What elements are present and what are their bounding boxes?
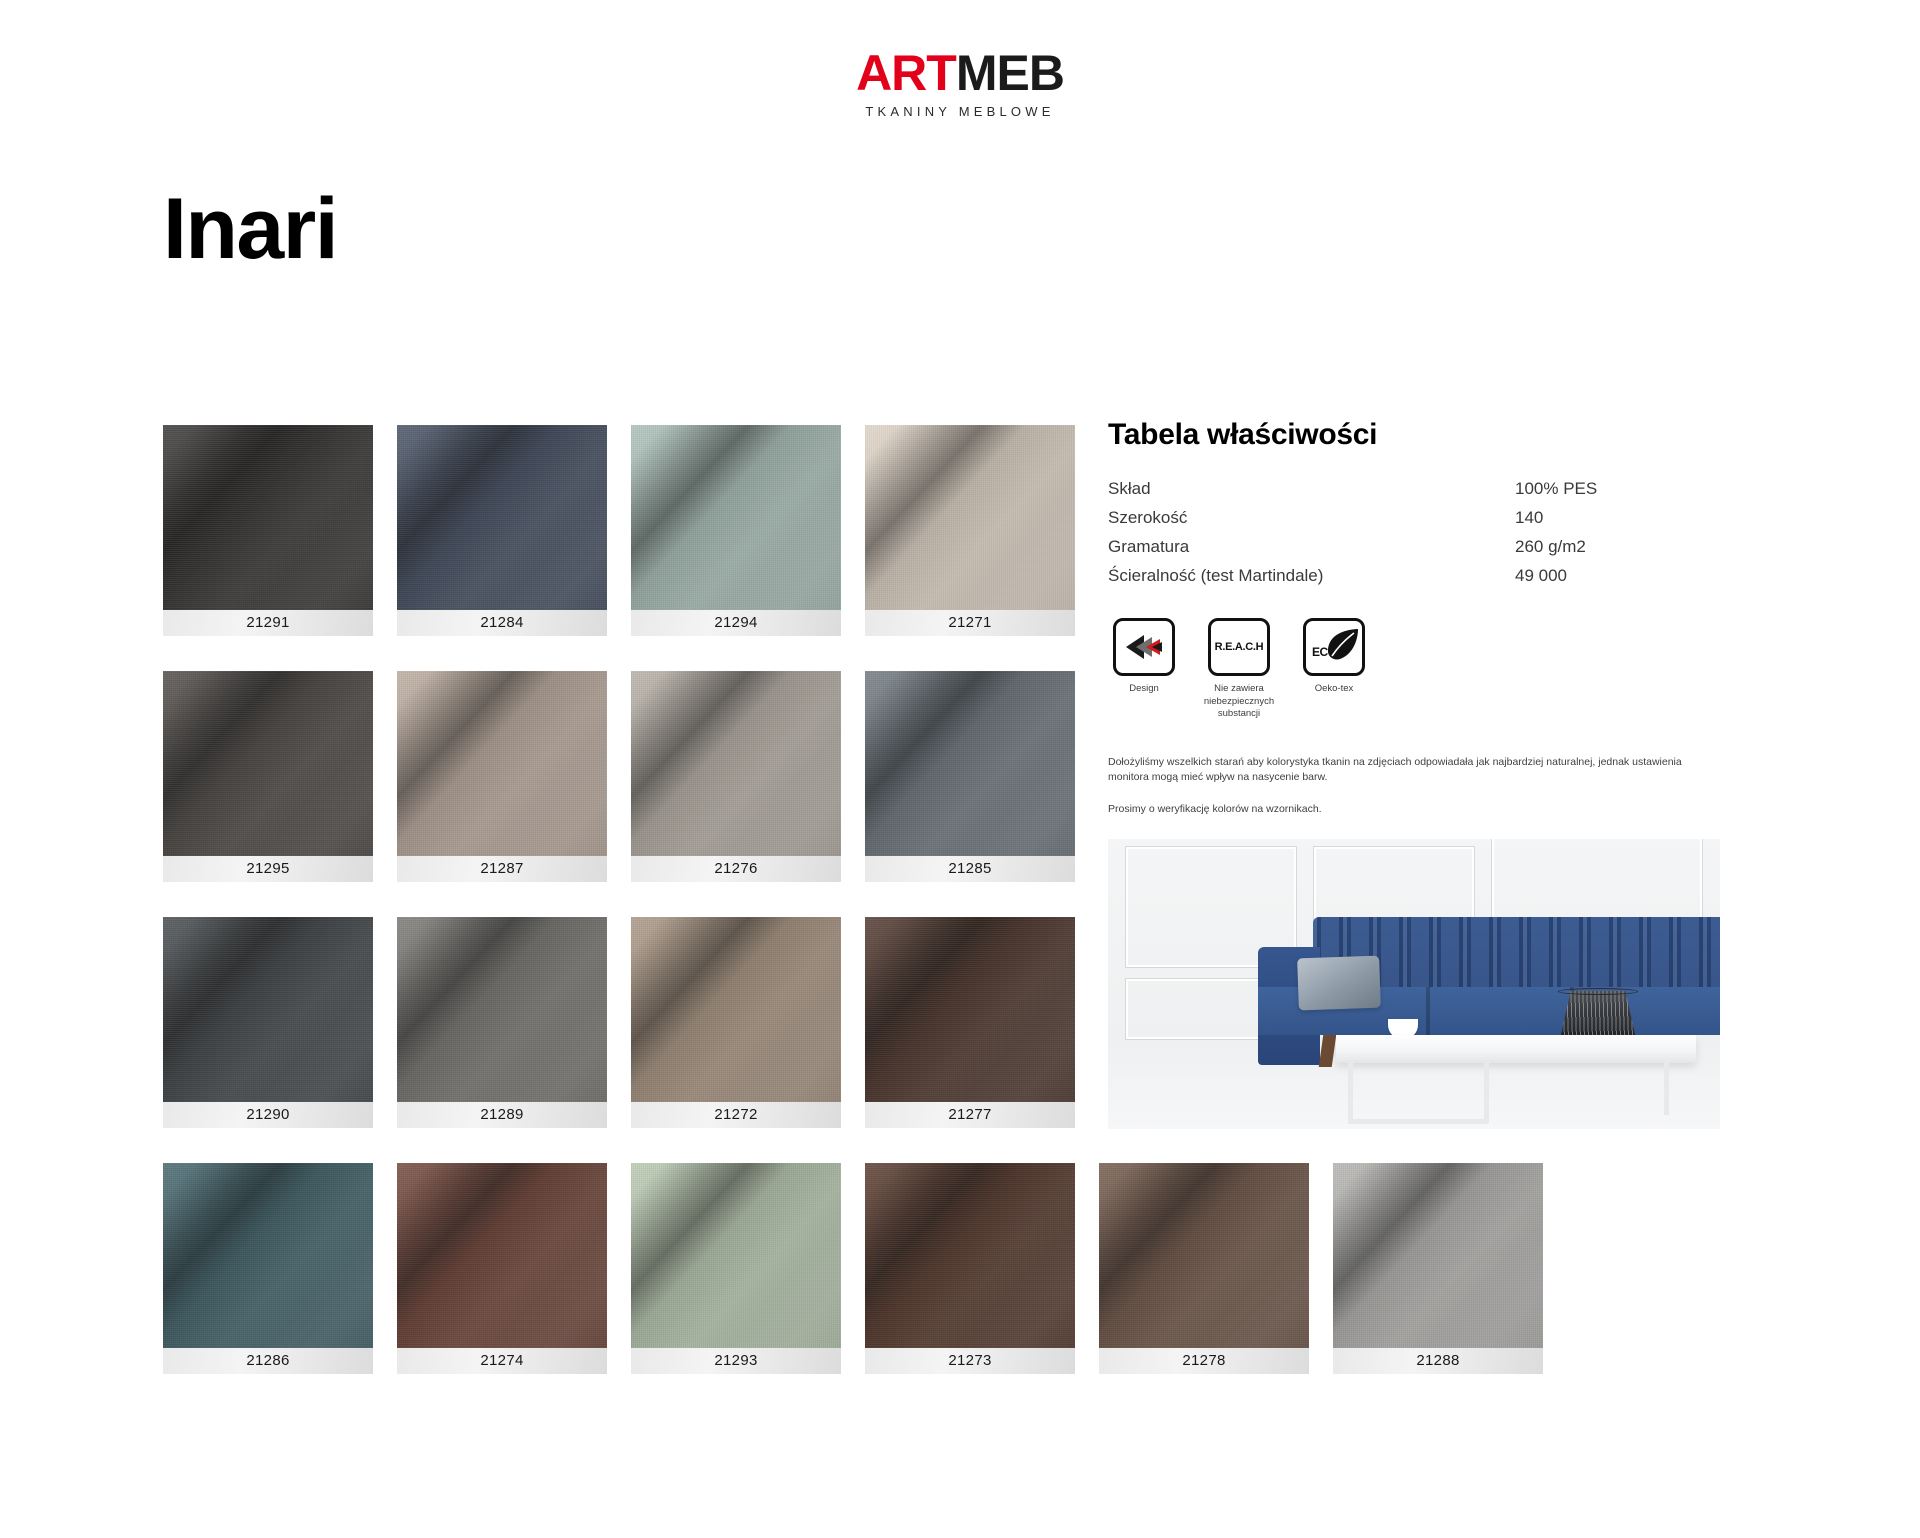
coffee-table-leg — [1664, 1061, 1669, 1115]
eco-leaf-icon: ECO — [1303, 618, 1365, 676]
swatch-image — [397, 671, 607, 856]
swatch-21288[interactable]: 21288 — [1333, 1163, 1543, 1374]
badge-caption: Oeko-tex — [1298, 683, 1370, 696]
table-row: Gramatura 260 g/m2 — [1108, 536, 1720, 565]
swatch-code-label: 21273 — [865, 1348, 1075, 1374]
swatch-code-label: 21271 — [865, 610, 1075, 636]
disclaimer-paragraph-1: Dołożyliśmy wszelkich starań aby kolorys… — [1108, 755, 1720, 785]
swatch-21278[interactable]: 21278 — [1099, 1163, 1309, 1374]
property-label: Gramatura — [1108, 536, 1505, 565]
swatch-21286[interactable]: 21286 — [163, 1163, 373, 1374]
design-arrow-icon — [1113, 618, 1175, 676]
table-row: Szerokość 140 — [1108, 507, 1720, 536]
swatch-code-label: 21277 — [865, 1102, 1075, 1128]
swatch-21272[interactable]: 21272 — [631, 917, 841, 1128]
logo-wordmark: ARTMEB — [0, 48, 1920, 98]
swatch-image — [631, 1163, 841, 1348]
swatch-21290[interactable]: 21290 — [163, 917, 373, 1128]
swatch-21273[interactable]: 21273 — [865, 1163, 1075, 1374]
badge-oeko-tex: ECO Oeko-tex — [1298, 618, 1370, 721]
swatch-image — [397, 917, 607, 1102]
swatch-code-label: 21288 — [1333, 1348, 1543, 1374]
swatch-code-label: 21291 — [163, 610, 373, 636]
swatch-code-label: 21272 — [631, 1102, 841, 1128]
swatch-image — [865, 917, 1075, 1102]
reach-label: R.E.A.C.H — [1215, 641, 1264, 653]
swatch-row-4: 21286 21274 21293 21273 21278 21288 — [163, 1163, 1533, 1374]
swatch-21295[interactable]: 21295 — [163, 671, 373, 882]
badge-design: Design — [1108, 618, 1180, 721]
swatch-21291[interactable]: 21291 — [163, 425, 373, 636]
coffee-table-top — [1336, 1035, 1696, 1063]
property-value: 49 000 — [1505, 565, 1720, 594]
swatch-21271[interactable]: 21271 — [865, 425, 1075, 636]
wire-basket-wires — [1560, 991, 1636, 1039]
logo-art-text: ART — [856, 45, 956, 101]
swatch-21294[interactable]: 21294 — [631, 425, 841, 636]
swatch-21285[interactable]: 21285 — [865, 671, 1075, 882]
swatch-21274[interactable]: 21274 — [397, 1163, 607, 1374]
interior-photo — [1108, 839, 1720, 1129]
reach-icon: R.E.A.C.H — [1208, 618, 1270, 676]
swatch-code-label: 21293 — [631, 1348, 841, 1374]
swatch-code-label: 21294 — [631, 610, 841, 636]
swatch-code-label: 21287 — [397, 856, 607, 882]
property-label: Skład — [1108, 478, 1505, 507]
logo-meb-text: MEB — [956, 45, 1064, 101]
disclaimer-paragraph-2: Prosimy o weryfikację kolorów na wzornik… — [1108, 802, 1720, 817]
swatch-image — [865, 671, 1075, 856]
swatch-code-label: 21290 — [163, 1102, 373, 1128]
properties-table: Skład 100% PES Szerokość 140 Gramatura 2… — [1108, 478, 1720, 594]
table-row: Ścieralność (test Martindale) 49 000 — [1108, 565, 1720, 594]
properties-panel: Tabela właściwości Skład 100% PES Szerok… — [1108, 418, 1720, 1129]
badge-reach: R.E.A.C.H Nie zawiera niebezpiecznych su… — [1203, 618, 1275, 721]
badge-caption: Design — [1108, 683, 1180, 696]
swatch-code-label: 21276 — [631, 856, 841, 882]
swatch-image — [631, 671, 841, 856]
swatch-21277[interactable]: 21277 — [865, 917, 1075, 1128]
swatch-21276[interactable]: 21276 — [631, 671, 841, 882]
swatch-image — [1333, 1163, 1543, 1348]
coffee-table-leg — [1484, 1061, 1489, 1123]
sofa-cushion-seam — [1426, 987, 1430, 1035]
property-value: 140 — [1505, 507, 1720, 536]
catalog-page: ARTMEB TKANINY MEBLOWE Inari 21291 21284… — [0, 0, 1920, 1538]
swatch-21287[interactable]: 21287 — [397, 671, 607, 882]
color-disclaimer: Dołożyliśmy wszelkich starań aby kolorys… — [1108, 755, 1720, 817]
swatch-image — [163, 425, 373, 610]
wire-basket-rim — [1558, 988, 1638, 995]
property-label: Ścieralność (test Martindale) — [1108, 565, 1505, 594]
brand-logo: ARTMEB TKANINY MEBLOWE — [0, 48, 1920, 119]
throw-pillow — [1297, 955, 1381, 1010]
page-title: Inari — [163, 186, 337, 272]
swatch-code-label: 21274 — [397, 1348, 607, 1374]
swatch-image — [1099, 1163, 1309, 1348]
certification-badges: Design R.E.A.C.H Nie zawiera niebezpiecz… — [1108, 618, 1720, 721]
coffee-table-leg — [1348, 1119, 1488, 1124]
swatch-image — [865, 1163, 1075, 1348]
swatch-code-label: 21286 — [163, 1348, 373, 1374]
property-value: 260 g/m2 — [1505, 536, 1720, 565]
swatch-image — [631, 425, 841, 610]
swatch-code-label: 21278 — [1099, 1348, 1309, 1374]
swatch-image — [397, 425, 607, 610]
swatch-code-label: 21284 — [397, 610, 607, 636]
swatch-image — [397, 1163, 607, 1348]
property-value: 100% PES — [1505, 478, 1720, 507]
swatch-image — [631, 917, 841, 1102]
coffee-table-leg — [1348, 1061, 1353, 1123]
swatch-image — [163, 1163, 373, 1348]
badge-caption: Nie zawiera niebezpiecznych substancji — [1203, 683, 1275, 721]
properties-heading: Tabela właściwości — [1108, 418, 1720, 452]
swatch-image — [163, 917, 373, 1102]
logo-tagline: TKANINY MEBLOWE — [0, 104, 1920, 119]
swatch-21284[interactable]: 21284 — [397, 425, 607, 636]
swatch-21293[interactable]: 21293 — [631, 1163, 841, 1374]
table-row: Skład 100% PES — [1108, 478, 1720, 507]
swatch-image — [163, 671, 373, 856]
swatch-code-label: 21289 — [397, 1102, 607, 1128]
property-label: Szerokość — [1108, 507, 1505, 536]
swatch-21289[interactable]: 21289 — [397, 917, 607, 1128]
swatch-code-label: 21285 — [865, 856, 1075, 882]
swatch-code-label: 21295 — [163, 856, 373, 882]
swatch-image — [865, 425, 1075, 610]
